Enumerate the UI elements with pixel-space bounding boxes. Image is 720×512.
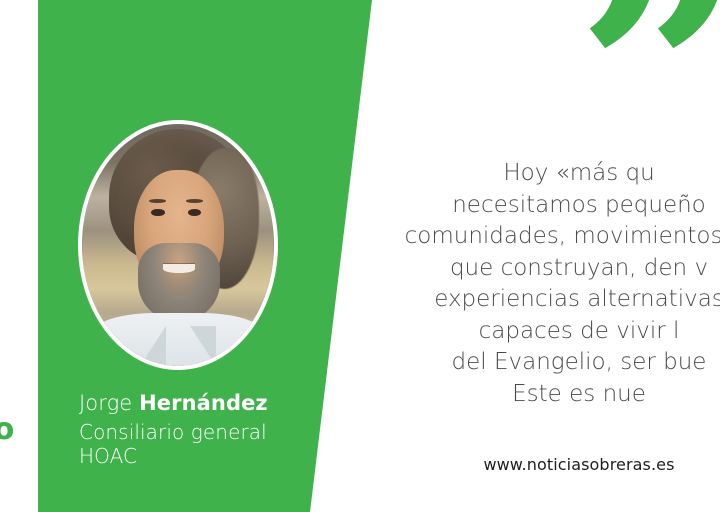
quote-line: comunidades, movimientos er <box>344 221 720 253</box>
person-first-name: Jorge <box>79 391 139 415</box>
site-url: www.noticiasobreras.es <box>344 455 720 475</box>
photo-mouth <box>163 264 196 272</box>
photo-shirt <box>94 313 263 366</box>
photo-beard <box>138 243 221 323</box>
photo-eyebrow-right <box>186 199 203 203</box>
person-info: Jorge Hernández Consiliario general HOAC <box>79 390 319 468</box>
avatar-ring <box>78 120 278 370</box>
portrait-photo <box>82 124 274 366</box>
logo-text-fragment: io <box>0 414 14 445</box>
quote-line: Este es nue <box>344 379 720 411</box>
quote-line: capaces de vivir l <box>344 316 720 348</box>
person-role-line-2: HOAC <box>79 444 137 468</box>
quote-line: que construyan, den v <box>344 253 720 285</box>
quote-card: ” Jorge Hernández Consiliar <box>0 0 720 512</box>
person-role-line-1: Consiliario general <box>79 420 267 444</box>
person-last-name: Hernández <box>139 391 268 415</box>
quote-line: del Evangelio, ser bue <box>344 347 720 379</box>
quote-line: necesitamos pequeño <box>344 190 720 222</box>
photo-eye-left <box>151 209 164 217</box>
quote-line: Hoy «más qu <box>344 158 720 190</box>
person-name: Jorge Hernández <box>79 390 319 416</box>
photo-collar-right <box>190 326 216 366</box>
photo-eyebrow-left <box>149 199 166 203</box>
quote-text: Hoy «más qu necesitamos pequeño comunida… <box>344 158 720 410</box>
avatar <box>78 120 278 370</box>
quote-line: experiencias alternativas <box>344 284 720 316</box>
person-role: Consiliario general HOAC <box>79 420 319 468</box>
photo-collar-left <box>140 326 166 366</box>
